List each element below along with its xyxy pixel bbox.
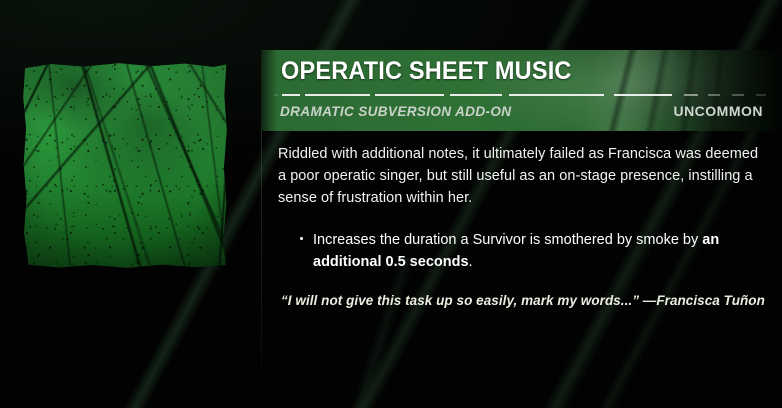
bullet-icon <box>300 237 303 240</box>
flavor-quote: “I will not give this task up so easily,… <box>278 293 770 308</box>
item-title: OPERATIC SHEET MUSIC <box>281 57 572 86</box>
effect-text-prefix: Increases the duration a Survivor is smo… <box>313 232 702 248</box>
flavor-text: Riddled with additional notes, it ultima… <box>278 143 770 209</box>
rarity-badge: UNCOMMON <box>673 103 763 119</box>
item-subtitle: DRAMATIC SUBVERSION ADD-ON <box>280 103 511 119</box>
panel-divider <box>261 131 262 384</box>
effect-text-suffix: . <box>469 254 473 270</box>
effect-list: Increases the duration a Survivor is smo… <box>278 229 770 273</box>
green-sheet-music-add-on-icon <box>22 62 228 270</box>
header-left-fade <box>261 50 277 131</box>
tooltip-body: Riddled with additional notes, it ultima… <box>278 143 770 308</box>
addon-tooltip-card: OPERATIC SHEET MUSIC DRAMATIC SUBVERSION… <box>0 0 782 408</box>
addon-icon[interactable] <box>22 62 228 270</box>
title-divider-rule <box>274 94 772 96</box>
icon-vignette-overlay <box>22 62 228 270</box>
effect-list-item: Increases the duration a Survivor is smo… <box>313 229 770 273</box>
